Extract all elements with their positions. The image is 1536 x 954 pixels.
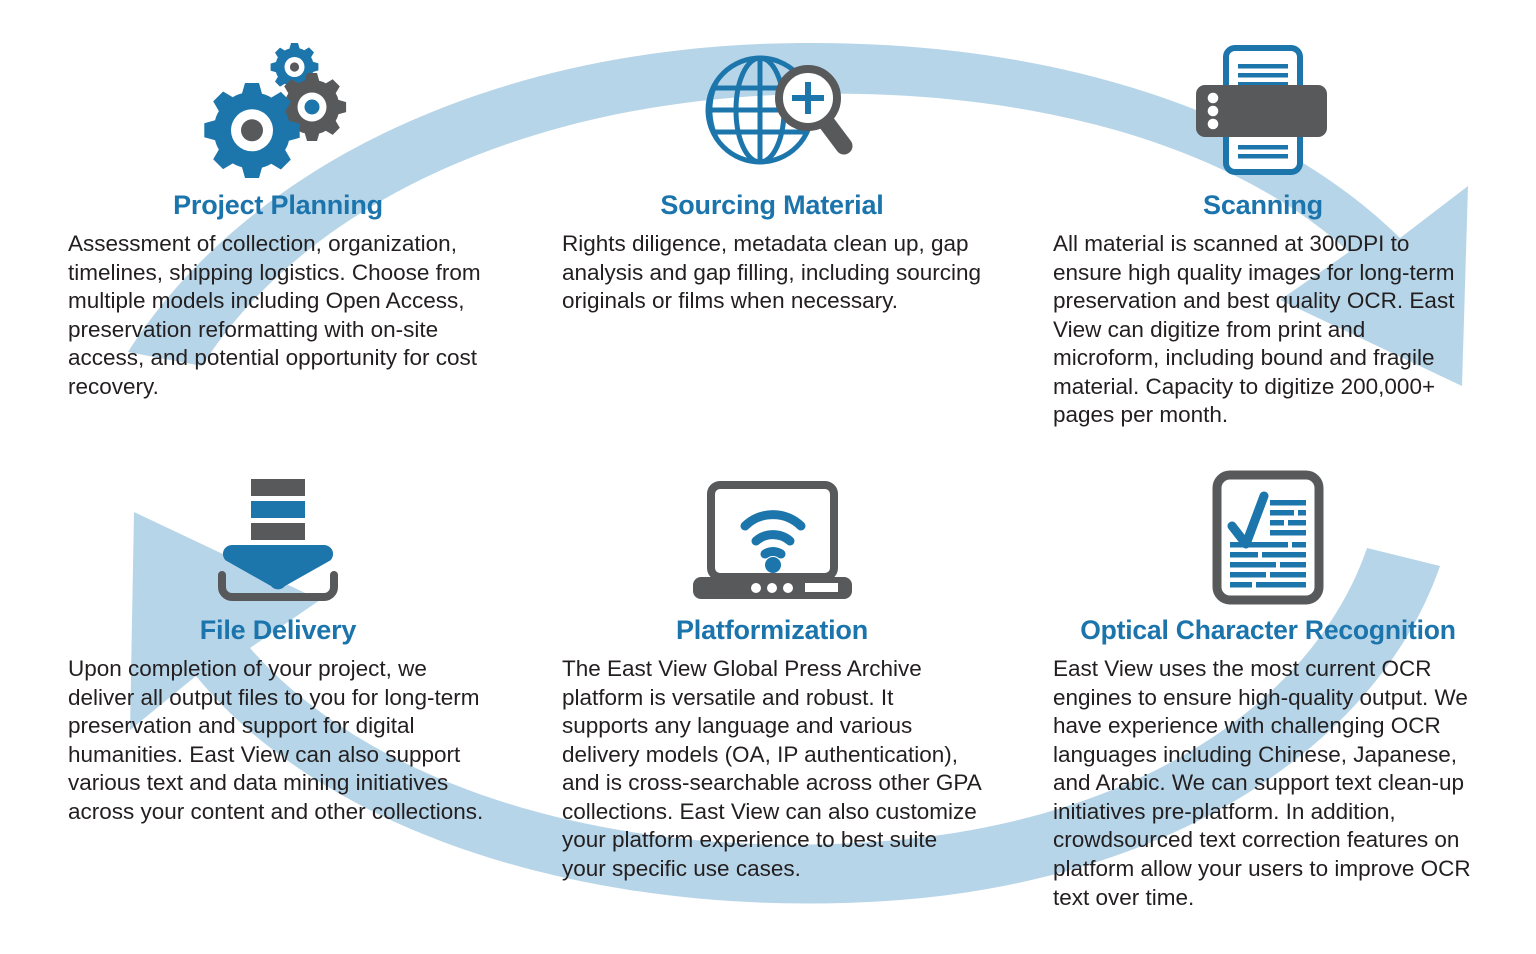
step-description: All material is scanned at 300DPI to ens…	[1053, 230, 1473, 430]
gears-icon	[203, 40, 353, 180]
step-title: Scanning	[1053, 190, 1473, 221]
step-description: Upon completion of your project, we deli…	[68, 655, 488, 826]
wifi-dot	[765, 557, 781, 573]
ocr-document	[1217, 475, 1319, 600]
scanner-indicator-dots	[1208, 93, 1219, 130]
step-title: Sourcing Material	[562, 190, 982, 221]
step-sourcing-material: Sourcing Material Rights diligence, meta…	[562, 30, 982, 316]
step-description: Assessment of collection, organization, …	[68, 230, 488, 401]
document-lines-top	[1238, 64, 1288, 87]
step-optical-character-recognition: Optical Character Recognition East View …	[1053, 455, 1483, 912]
laptop-base-dots	[751, 583, 793, 593]
step-platformization: Platformization The East View Global Pre…	[562, 455, 982, 884]
step-title: Platformization	[562, 615, 982, 646]
document-check-icon	[1208, 470, 1328, 605]
step-icon-wrapper	[1053, 455, 1483, 605]
laptop-trackpad	[805, 583, 838, 592]
step-icon-wrapper	[68, 455, 488, 605]
step-icon-wrapper	[68, 30, 488, 180]
step-description: The East View Global Press Archive platf…	[562, 655, 982, 884]
gear-small-center	[290, 62, 299, 71]
laptop-wifi-icon	[690, 480, 855, 605]
gear-large-center	[241, 119, 263, 141]
download-icon	[208, 475, 348, 605]
step-title: Project Planning	[68, 190, 488, 221]
step-file-delivery: File Delivery Upon completion of your pr…	[68, 455, 488, 826]
scanner-icon	[1193, 40, 1333, 180]
step-title: Optical Character Recognition	[1053, 615, 1483, 646]
download-arrow	[223, 545, 333, 589]
step-description: Rights diligence, metadata clean up, gap…	[562, 230, 982, 316]
gear-medium-center	[305, 100, 320, 115]
globe-search-icon	[688, 40, 856, 180]
step-icon-wrapper	[562, 30, 982, 180]
step-title: File Delivery	[68, 615, 488, 646]
step-icon-wrapper	[1053, 30, 1473, 180]
step-icon-wrapper	[562, 455, 982, 605]
download-stack-bars	[251, 479, 305, 540]
step-description: East View uses the most current OCR engi…	[1053, 655, 1483, 912]
process-cycle-infographic: Project Planning Assessment of collectio…	[0, 0, 1536, 954]
step-project-planning: Project Planning Assessment of collectio…	[68, 30, 488, 401]
step-scanning: Scanning All material is scanned at 300D…	[1053, 30, 1473, 430]
